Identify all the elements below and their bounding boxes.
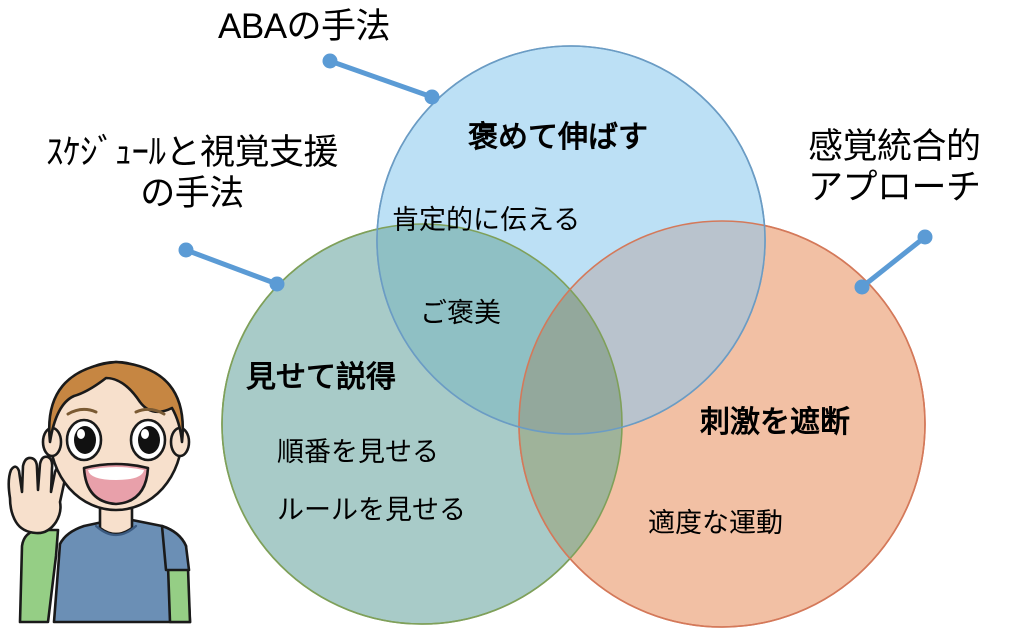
- connector-aba: [323, 54, 440, 105]
- circle-title-block: 刺激を遮断: [700, 405, 850, 440]
- outer-label-sensory: 感覚統合的 アプローチ: [808, 126, 981, 209]
- circle-item-positive: 肯定的に伝える: [392, 205, 580, 237]
- circle-item-exercise: 適度な運動: [648, 508, 783, 540]
- boy-right-sleeve: [168, 566, 190, 622]
- outer-label-aba: ABAの手法: [218, 6, 390, 47]
- connector-sensory: [855, 230, 933, 295]
- outer-label-schedule: ｽｹｼﾞｭｰﾙと視覚支援 の手法: [6, 132, 378, 215]
- connector-schedule: [179, 243, 285, 292]
- venn-diagram-canvas: ABAの手法 ｽｹｼﾞｭｰﾙと視覚支援 の手法 感覚統合的 アプローチ 褒めて伸…: [0, 0, 1024, 642]
- boy-left-sleeve: [20, 530, 58, 622]
- circle-item-reward: ご褒美: [420, 298, 501, 330]
- boy-waving-illustration: [0, 330, 232, 642]
- circle-item-order: 順番を見せる: [277, 437, 439, 469]
- circle-title-praise: 褒めて伸ばす: [468, 120, 648, 155]
- boy-right-short-sleeve: [162, 526, 189, 570]
- circle-title-show: 見せて説得: [246, 360, 396, 395]
- circle-item-rules: ルールを見せる: [277, 495, 466, 527]
